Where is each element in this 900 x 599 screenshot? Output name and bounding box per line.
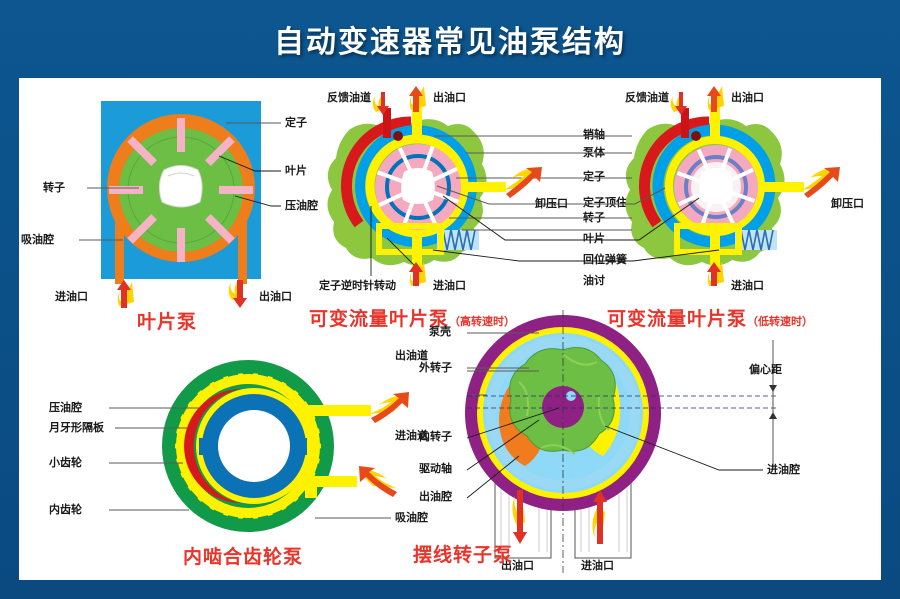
- label-gerotor-inlet-port: 进油口: [581, 560, 614, 571]
- poster-title-bar: 自动变速器常见油泵结构: [0, 0, 900, 78]
- label-gerotor-inlet-cav: 进油腔: [767, 464, 800, 475]
- label-gerotor-inner-rotor: 内转子: [419, 431, 452, 442]
- label-gerotor-outlet-cav: 出油腔: [419, 491, 452, 502]
- label-gerotor-drive-shaft: 驱动轴: [419, 463, 452, 474]
- label-gerotor-eccentricity: 偏心距: [749, 364, 782, 375]
- label-gerotor-outer-rotor: 外转子: [419, 362, 452, 373]
- page-title: 自动变速器常见油泵结构: [274, 17, 626, 61]
- label-gerotor-housing: 泵壳: [429, 326, 451, 337]
- caption-gerotor-text: 摆线转子泵: [413, 544, 513, 566]
- poster-root: 自动变速器常见油泵结构: [0, 0, 900, 599]
- eccentricity-dimension: [769, 340, 777, 468]
- diagram-canvas: 定子 转子 吸油腔 叶片 压油腔 进油口 出油口 叶片泵: [19, 78, 881, 580]
- caption-gerotor-pump: 摆线转子泵: [413, 540, 513, 567]
